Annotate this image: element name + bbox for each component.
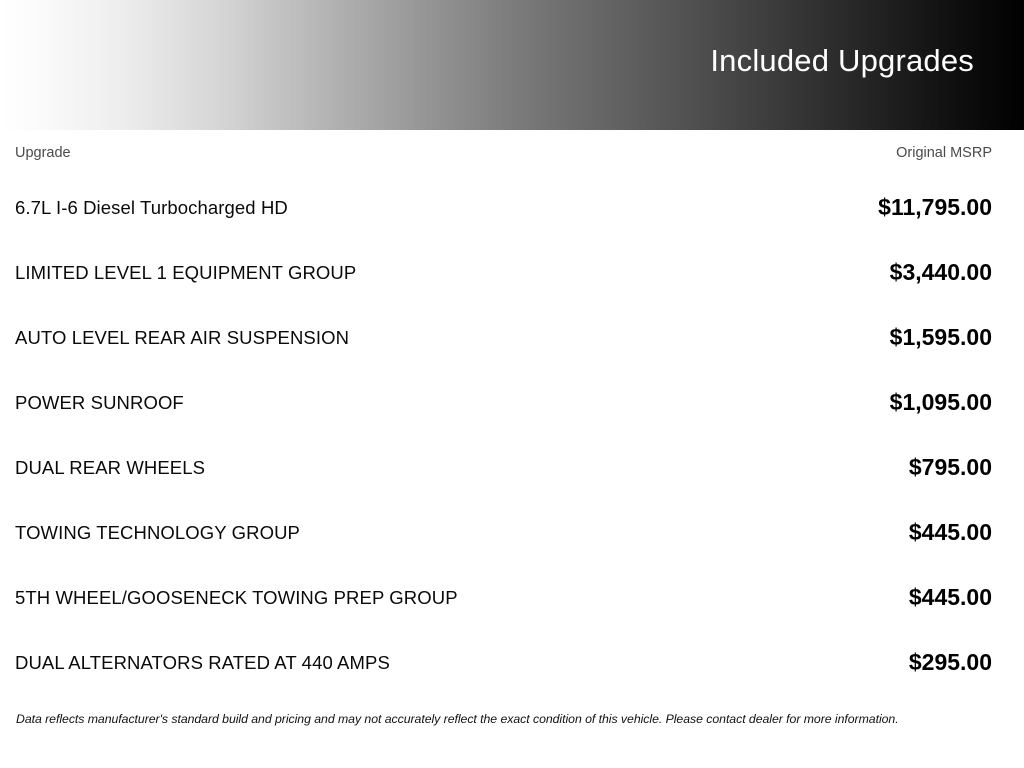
upgrade-price: $295.00	[512, 630, 1024, 695]
upgrade-name: 5TH WHEEL/GOOSENECK TOWING PREP GROUP	[0, 565, 512, 630]
table-row: DUAL ALTERNATORS RATED AT 440 AMPS $295.…	[0, 630, 1024, 695]
page-title: Included Upgrades	[710, 45, 974, 76]
upgrade-price: $3,440.00	[512, 240, 1024, 305]
table-row: POWER SUNROOF $1,095.00	[0, 370, 1024, 435]
upgrade-name: TOWING TECHNOLOGY GROUP	[0, 500, 512, 565]
disclaimer-text: Data reflects manufacturer's standard bu…	[16, 712, 899, 726]
upgrade-name: POWER SUNROOF	[0, 370, 512, 435]
upgrade-name: LIMITED LEVEL 1 EQUIPMENT GROUP	[0, 240, 512, 305]
column-header-upgrade: Upgrade	[0, 130, 512, 175]
upgrade-name: AUTO LEVEL REAR AIR SUSPENSION	[0, 305, 512, 370]
table-row: AUTO LEVEL REAR AIR SUSPENSION $1,595.00	[0, 305, 1024, 370]
table-row: LIMITED LEVEL 1 EQUIPMENT GROUP $3,440.0…	[0, 240, 1024, 305]
upgrade-price: $1,595.00	[512, 305, 1024, 370]
column-header-original-msrp: Original MSRP	[512, 130, 1024, 175]
table-row: TOWING TECHNOLOGY GROUP $445.00	[0, 500, 1024, 565]
table-row: 6.7L I-6 Diesel Turbocharged HD $11,795.…	[0, 175, 1024, 240]
header-banner: Included Upgrades	[0, 0, 1024, 130]
table-body: 6.7L I-6 Diesel Turbocharged HD $11,795.…	[0, 175, 1024, 695]
upgrade-name: DUAL REAR WHEELS	[0, 435, 512, 500]
upgrade-price: $445.00	[512, 500, 1024, 565]
table-header-row: Upgrade Original MSRP	[0, 130, 1024, 175]
upgrade-price: $445.00	[512, 565, 1024, 630]
upgrade-price: $11,795.00	[512, 175, 1024, 240]
table-row: 5TH WHEEL/GOOSENECK TOWING PREP GROUP $4…	[0, 565, 1024, 630]
upgrade-name: DUAL ALTERNATORS RATED AT 440 AMPS	[0, 630, 512, 695]
upgrade-price: $795.00	[512, 435, 1024, 500]
included-upgrades-table: Upgrade Original MSRP 6.7L I-6 Diesel Tu…	[0, 130, 1024, 695]
table-row: DUAL REAR WHEELS $795.00	[0, 435, 1024, 500]
upgrade-price: $1,095.00	[512, 370, 1024, 435]
upgrade-name: 6.7L I-6 Diesel Turbocharged HD	[0, 175, 512, 240]
upgrades-content: Upgrade Original MSRP 6.7L I-6 Diesel Tu…	[0, 130, 1024, 695]
